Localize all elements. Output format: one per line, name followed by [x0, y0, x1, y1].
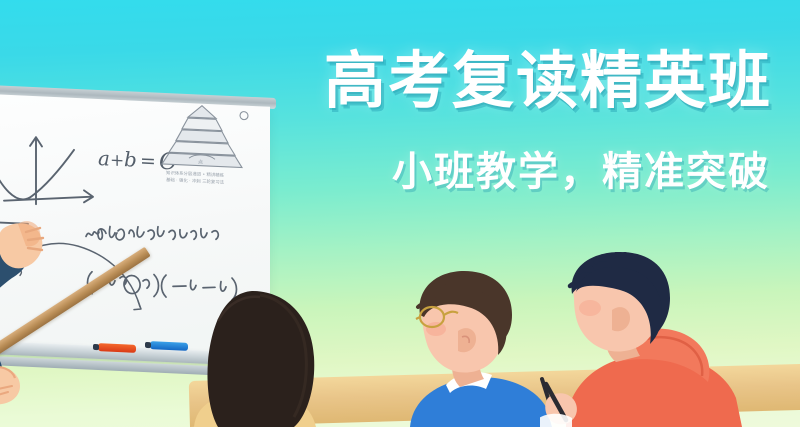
boy-hoodie-body: [566, 354, 742, 427]
page-subtitle: 小班教学，精准突破: [392, 152, 770, 192]
student-girl-long-hair: [188, 277, 348, 427]
teacher-hand-upper: [0, 221, 43, 268]
teacher-figure: [0, 210, 190, 427]
student-boy-hoodie: [540, 252, 770, 427]
course-promo-banner: a + b = C 点: [0, 0, 800, 427]
page-title: 高考复读精英班: [324, 50, 772, 112]
headline-block: 高考复读精英班 小班教学，精准突破: [0, 0, 800, 220]
teacher-hand-lower: [0, 366, 20, 404]
